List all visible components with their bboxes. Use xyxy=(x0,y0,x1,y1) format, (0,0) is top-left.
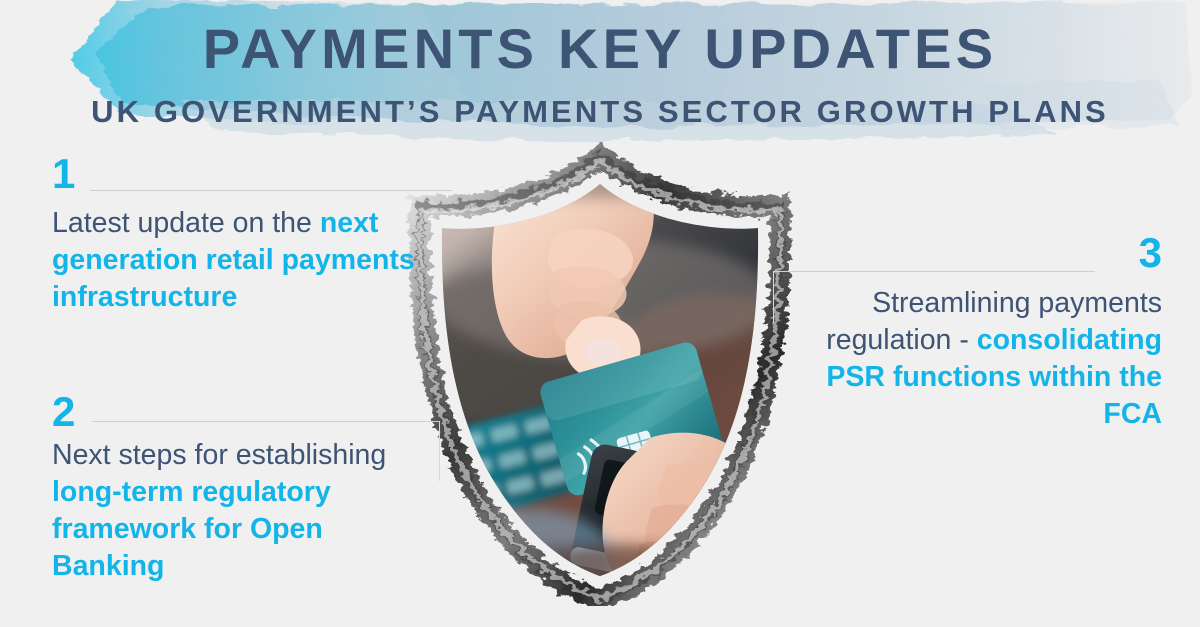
infographic-canvas: PAYMENTS KEY UPDATES UK GOVERNMENT’S PAY… xyxy=(0,0,1200,627)
key-update-item-2: 2 Next steps for establishing long-term … xyxy=(52,393,440,585)
key-update-item-1: 1 Latest update on the next generation r… xyxy=(52,155,452,316)
item-2-number-row: 2 xyxy=(52,393,440,435)
page-subtitle: UK GOVERNMENT’S PAYMENTS SECTOR GROWTH P… xyxy=(0,77,1200,127)
item-1-number: 1 xyxy=(52,155,75,194)
item-2-text-plain: Next steps for establishing xyxy=(52,439,386,471)
item-1-rule xyxy=(90,190,452,191)
key-update-item-3: 3 Streamlining payments regulation - con… xyxy=(772,234,1162,433)
item-2-text-highlight: long-term regulatory framework for Open … xyxy=(52,476,331,582)
page-title: PAYMENTS KEY UPDATES xyxy=(0,0,1200,77)
item-1-text-plain: Latest update on the xyxy=(52,207,320,239)
item-3-text: Streamlining payments regulation - conso… xyxy=(772,280,1162,433)
item-2-rule-stem xyxy=(439,421,440,481)
item-2-text: Next steps for establishing long-term re… xyxy=(52,435,440,585)
item-1-text: Latest update on the next generation ret… xyxy=(52,199,452,316)
item-3-rule xyxy=(773,271,1095,272)
header-block: PAYMENTS KEY UPDATES UK GOVERNMENT’S PAY… xyxy=(0,0,1200,127)
shield-hero-image xyxy=(404,138,796,606)
item-3-rule-stem xyxy=(773,271,774,323)
item-2-number: 2 xyxy=(52,393,75,432)
item-2-rule xyxy=(92,421,440,422)
item-3-number: 3 xyxy=(1139,234,1162,273)
item-1-number-row: 1 xyxy=(52,155,452,199)
item-3-number-row: 3 xyxy=(772,234,1162,280)
